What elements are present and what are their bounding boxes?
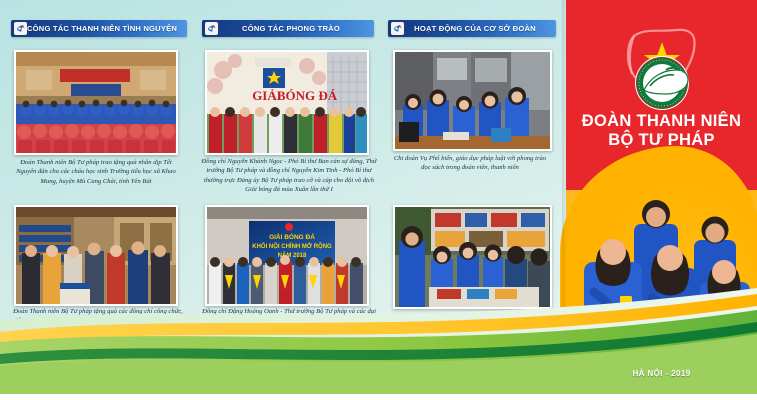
section-header-grassroots: HOẠT ĐỘNG CỦA CƠ SỞ ĐOÀN — [388, 20, 556, 37]
section-title: HOẠT ĐỘNG CỦA CƠ SỞ ĐOÀN — [404, 24, 556, 33]
footer-location-year: HÀ NỘI - 2019 — [566, 369, 757, 378]
photo-volunteer-tet-gift — [14, 50, 178, 155]
ho-chi-minh-communist-youth-union-emblem-icon — [606, 26, 718, 114]
youth-union-emblem-icon — [391, 22, 404, 35]
photo-reading-movement — [393, 50, 552, 151]
section-header-movement: CÔNG TÁC PHONG TRÀO — [202, 20, 374, 37]
youth-union-emblem-icon — [14, 22, 27, 35]
photo-football-trophy: GIẢI BÓNG ĐÁ — [205, 50, 369, 155]
youth-union-emblem-icon — [205, 22, 218, 35]
brand-line-1: ĐOÀN THANH NIÊN — [566, 112, 757, 131]
caption-reading-movement: Chi đoàn Vụ Phổ biến, giáo dục pháp luật… — [390, 154, 550, 173]
svg-text:BÓNG ĐÁ: BÓNG ĐÁ — [277, 88, 338, 103]
caption-football-trophy: Đồng chí Nguyễn Khánh Ngọc - Phó Bí thư … — [200, 157, 378, 195]
svg-text:KHỐI NỘI CHÍNH MỞ RỘNG: KHỐI NỘI CHÍNH MỞ RỘNG — [252, 242, 332, 250]
section-header-volunteer: CÔNG TÁC THANH NIÊN TÌNH NGUYỆN — [11, 20, 187, 37]
svg-text:GIẢI BÓNG ĐÁ: GIẢI BÓNG ĐÁ — [269, 232, 315, 241]
bottom-wave-decoration — [0, 280, 757, 400]
section-title: CÔNG TÁC THANH NIÊN TÌNH NGUYỆN — [27, 24, 187, 33]
caption-volunteer-tet-gift: Đoàn Thanh niên Bộ Tư pháp trao tặng quà… — [10, 158, 182, 186]
brand-line-2: BỘ TƯ PHÁP — [566, 131, 757, 150]
poster-canvas: CÔNG TÁC THANH NIÊN TÌNH NGUYỆN — [0, 0, 757, 400]
section-title: CÔNG TÁC PHONG TRÀO — [218, 24, 374, 33]
brand-title: ĐOÀN THANH NIÊN BỘ TƯ PHÁP — [566, 112, 757, 150]
